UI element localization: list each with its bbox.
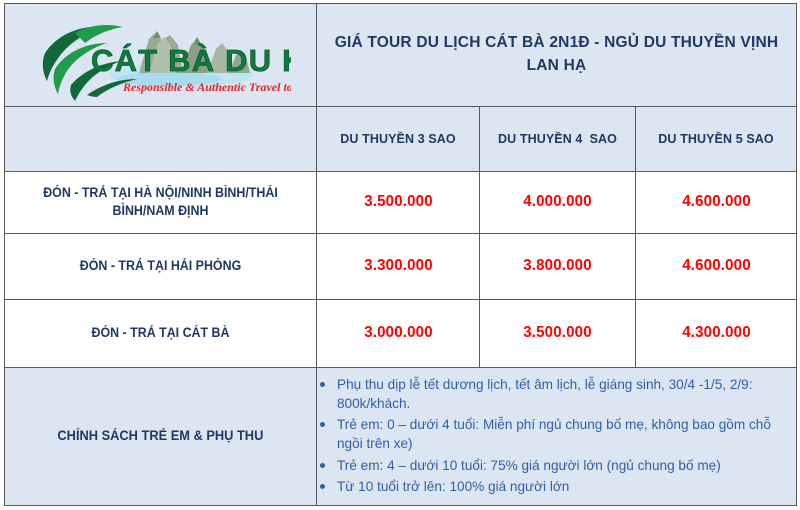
column-header-5-star: DU THUYỀN 5 SAO [636, 106, 797, 171]
price-cell: 4.300.000 [636, 299, 797, 367]
price-cell: 3.000.000 [317, 299, 480, 367]
bullet-icon [320, 484, 325, 489]
column-header-label: DU THUYỀN 3 SAO [340, 132, 455, 146]
page-title: GIÁ TOUR DU LỊCH CÁT BÀ 2N1Đ - NGỦ DU TH… [317, 32, 796, 77]
policy-item-text: Phụ thu dịp lễ tết dương lịch, tết âm lị… [337, 377, 753, 411]
table-row: ĐÓN - TRẢ TẠI CÁT BÀ 3.000.000 3.500.000… [5, 299, 797, 367]
column-header-3-star: DU THUYỀN 3 SAO [317, 106, 480, 171]
svg-text:CÁT BÀ DU KÝ: CÁT BÀ DU KÝ [91, 43, 291, 78]
price-cell: 3.500.000 [480, 299, 636, 367]
row-label-cell: ĐÓN - TRẢ TẠI HÀ NỘI/NINH BÌNH/THÁI BÌNH… [5, 171, 317, 233]
policy-item-text: Trẻ em: 4 – dưới 10 tuổi: 75% giá người … [337, 458, 721, 473]
price-value: 4.000.000 [523, 193, 592, 211]
price-value: 4.600.000 [682, 193, 751, 211]
table-header-row: CÁT BÀ DU KÝ Responsible & Authentic Tra… [5, 4, 797, 107]
price-cell: 4.600.000 [636, 233, 797, 299]
list-item: Trẻ em: 4 – dưới 10 tuổi: 75% giá người … [335, 456, 796, 475]
row-label-cell: ĐÓN - TRẢ TẠI CÁT BÀ [5, 299, 317, 367]
row-label-cell: ĐÓN - TRẢ TẠI HẢI PHÒNG [5, 233, 317, 299]
policy-label-cell: CHÍNH SÁCH TRẺ EM & PHỤ THU [5, 367, 317, 505]
policy-item-text: Từ 10 tuổi trở lên: 100% giá người lớn [337, 479, 569, 494]
column-header-4-star: DU THUYỀN 4 SAO [480, 106, 636, 171]
policy-content-cell: Phụ thu dịp lễ tết dương lịch, tết âm lị… [317, 367, 797, 505]
price-table-sheet: CÁT BÀ DU KÝ Responsible & Authentic Tra… [0, 0, 800, 510]
bullet-icon [320, 422, 325, 427]
list-item: Trẻ em: 0 – dưới 4 tuổi: Miễn phí ngủ ch… [335, 415, 796, 454]
column-header-label: DU THUYỀN 4 SAO [498, 132, 617, 146]
price-value: 3.300.000 [364, 257, 433, 275]
row-label: ĐÓN - TRẢ TẠI HÀ NỘI/NINH BÌNH/THÁI BÌNH… [17, 184, 303, 220]
bullet-icon [320, 382, 325, 387]
tour-price-table: CÁT BÀ DU KÝ Responsible & Authentic Tra… [4, 3, 797, 506]
column-header-label: DU THUYỀN 5 SAO [658, 132, 773, 146]
column-header-row: DU THUYỀN 3 SAO DU THUYỀN 4 SAO DU THUYỀ… [5, 106, 797, 171]
price-value: 3.500.000 [364, 193, 433, 211]
policy-list: Phụ thu dịp lễ tết dương lịch, tết âm lị… [317, 375, 796, 497]
price-value: 3.800.000 [523, 257, 592, 275]
list-item: Từ 10 tuổi trở lên: 100% giá người lớn [335, 477, 796, 496]
price-value: 3.500.000 [523, 324, 592, 342]
table-row: ĐÓN - TRẢ TẠI HÀ NỘI/NINH BÌNH/THÁI BÌNH… [5, 171, 797, 233]
logo-cell-spacer [5, 106, 317, 171]
price-cell: 4.000.000 [480, 171, 636, 233]
price-value: 4.600.000 [682, 257, 751, 275]
table-title-cell: GIÁ TOUR DU LỊCH CÁT BÀ 2N1Đ - NGỦ DU TH… [317, 4, 797, 107]
table-row: ĐÓN - TRẢ TẠI HẢI PHÒNG 3.300.000 3.800.… [5, 233, 797, 299]
bullet-icon [320, 463, 325, 468]
price-cell: 4.600.000 [636, 171, 797, 233]
brand-logo: CÁT BÀ DU KÝ Responsible & Authentic Tra… [31, 9, 291, 101]
price-value: 3.000.000 [364, 324, 433, 342]
policy-label: CHÍNH SÁCH TRẺ EM & PHỤ THU [58, 428, 264, 443]
list-item: Phụ thu dịp lễ tết dương lịch, tết âm lị… [335, 375, 796, 414]
policy-item-text: Trẻ em: 0 – dưới 4 tuổi: Miễn phí ngủ ch… [337, 417, 771, 451]
logo-cell: CÁT BÀ DU KÝ Responsible & Authentic Tra… [5, 4, 317, 107]
logo-graphic-icon: CÁT BÀ DU KÝ Responsible & Authentic Tra… [31, 9, 291, 101]
price-cell: 3.500.000 [317, 171, 480, 233]
row-label: ĐÓN - TRẢ TẠI CÁT BÀ [17, 324, 303, 342]
row-label: ĐÓN - TRẢ TẠI HẢI PHÒNG [17, 257, 303, 275]
policy-row: CHÍNH SÁCH TRẺ EM & PHỤ THU Phụ thu dịp … [5, 367, 797, 505]
svg-text:Responsible & Authentic Travel: Responsible & Authentic Travel to the Is… [122, 80, 291, 94]
price-cell: 3.300.000 [317, 233, 480, 299]
price-value: 4.300.000 [682, 324, 751, 342]
price-cell: 3.800.000 [480, 233, 636, 299]
